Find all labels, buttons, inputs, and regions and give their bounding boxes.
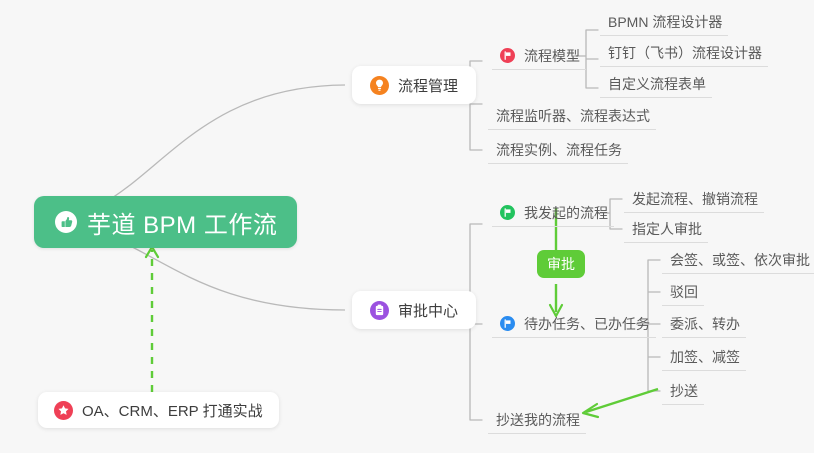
- arrow-cc-to-ccme: [586, 389, 658, 412]
- branch-label-process-management: 流程管理: [398, 75, 458, 96]
- star-icon: [54, 401, 73, 420]
- node-assignee-approve[interactable]: 指定人审批: [624, 215, 708, 243]
- node-process-instance[interactable]: 流程实例、流程任务: [488, 136, 628, 164]
- node-label-delegate-transfer: 委派、转办: [670, 314, 740, 334]
- node-label-custom-form: 自定义流程表单: [608, 74, 706, 94]
- node-process-model[interactable]: 流程模型: [492, 42, 586, 70]
- node-label-todo-done: 待办任务、已办任务: [524, 314, 650, 334]
- node-label-process-model: 流程模型: [524, 46, 580, 66]
- mindmap-canvas: 芋道 BPM 工作流 OA、CRM、ERP 打通实战 流程管理: [0, 0, 814, 453]
- node-label-dingtalk-designer: 钉钉（飞书）流程设计器: [608, 43, 762, 63]
- node-cc[interactable]: 抄送: [662, 377, 704, 405]
- node-custom-form[interactable]: 自定义流程表单: [600, 70, 712, 98]
- node-dingtalk-designer[interactable]: 钉钉（飞书）流程设计器: [600, 39, 768, 67]
- connector-model-bracket: [586, 30, 598, 88]
- node-label-bpmn-designer: BPMN 流程设计器: [608, 12, 722, 32]
- node-cc-to-me[interactable]: 抄送我的流程: [488, 406, 586, 434]
- thumbs-up-icon: [54, 210, 78, 234]
- approval-badge-label: 审批: [547, 254, 575, 274]
- node-bpmn-designer[interactable]: BPMN 流程设计器: [600, 8, 728, 36]
- node-todo-done[interactable]: 待办任务、已办任务: [492, 310, 656, 338]
- node-label-assignee-approve: 指定人审批: [632, 219, 702, 239]
- root-label: 芋道 BPM 工作流: [87, 205, 277, 240]
- flag-icon: [500, 316, 515, 331]
- clipboard-icon: [370, 301, 389, 320]
- branch-node-approval-center[interactable]: 审批中心: [352, 291, 476, 329]
- node-reject[interactable]: 驳回: [662, 278, 704, 306]
- node-label-start-cancel: 发起流程、撤销流程: [632, 189, 758, 209]
- node-label-add-remove-sign: 加签、减签: [670, 347, 740, 367]
- branch-node-process-management[interactable]: 流程管理: [352, 66, 476, 104]
- node-label-cc-to-me: 抄送我的流程: [496, 410, 580, 430]
- flag-icon: [500, 205, 515, 220]
- node-counter-sign[interactable]: 会签、或签、依次审批: [662, 246, 814, 274]
- node-label-my-started: 我发起的流程: [524, 203, 608, 223]
- node-label-reject: 驳回: [670, 282, 698, 302]
- lightbulb-icon: [370, 76, 389, 95]
- node-add-remove-sign[interactable]: 加签、减签: [662, 343, 746, 371]
- node-label-cc: 抄送: [670, 381, 698, 401]
- branch-label-approval-center: 审批中心: [398, 300, 458, 321]
- node-label-process-listener: 流程监听器、流程表达式: [496, 106, 650, 126]
- node-label-counter-sign: 会签、或签、依次审批: [670, 250, 810, 270]
- node-delegate-transfer[interactable]: 委派、转办: [662, 310, 746, 338]
- root-node[interactable]: 芋道 BPM 工作流: [34, 196, 297, 248]
- node-start-cancel[interactable]: 发起流程、撤销流程: [624, 185, 764, 213]
- node-label-process-instance: 流程实例、流程任务: [496, 140, 622, 160]
- flag-icon: [500, 48, 515, 63]
- node-my-started[interactable]: 我发起的流程: [492, 199, 614, 227]
- arrow-note-to-root-head: [146, 247, 158, 257]
- bottom-note-node[interactable]: OA、CRM、ERP 打通实战: [38, 392, 279, 428]
- approval-badge[interactable]: 审批: [537, 250, 585, 278]
- node-process-listener[interactable]: 流程监听器、流程表达式: [488, 102, 656, 130]
- bottom-note-label: OA、CRM、ERP 打通实战: [82, 400, 263, 421]
